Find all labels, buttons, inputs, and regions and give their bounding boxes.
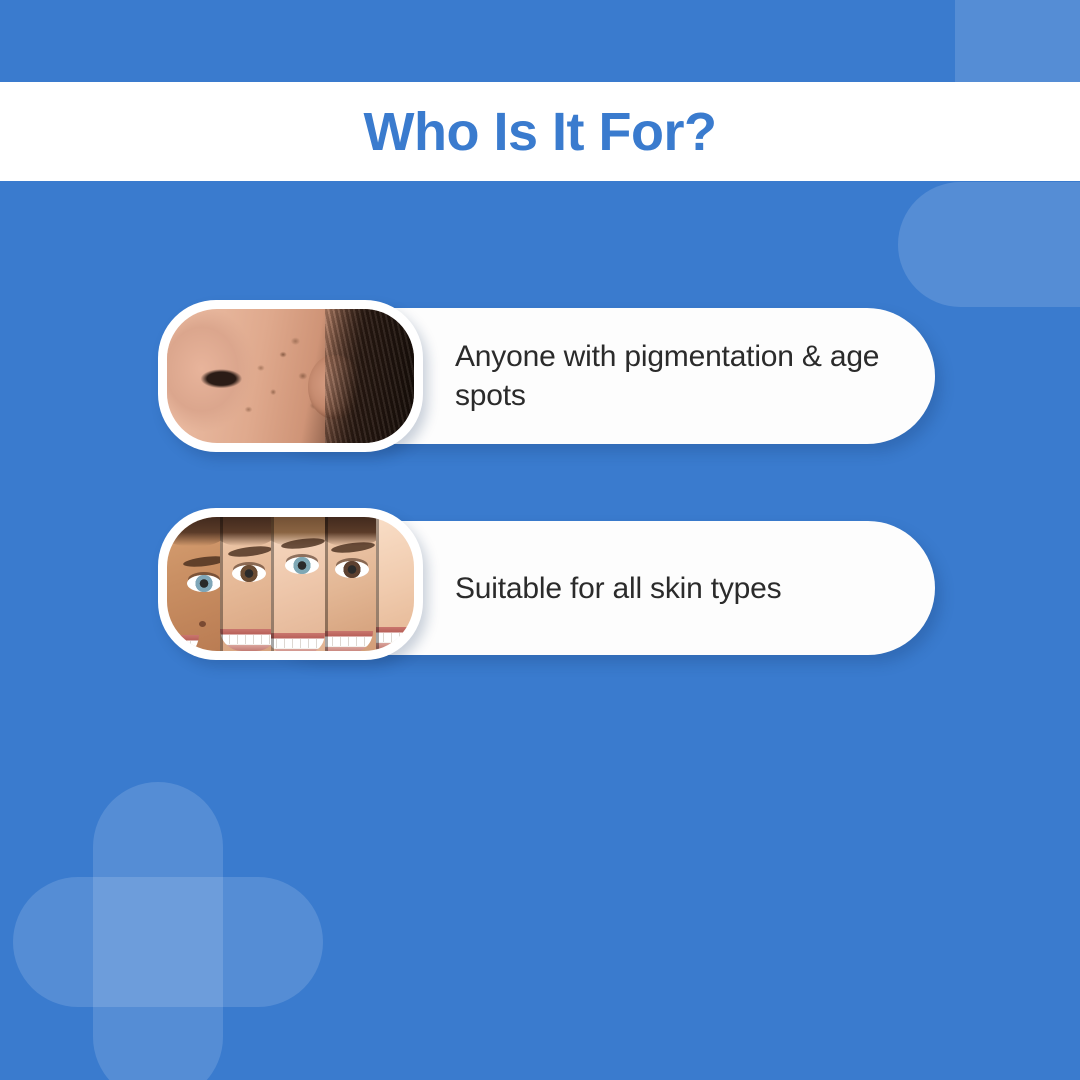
face-slice-2 <box>220 517 271 651</box>
face-slice-5 <box>376 517 414 651</box>
title-band: Who Is It For? <box>0 82 1080 181</box>
face-slice-4 <box>325 517 376 651</box>
feature-card-2-thumbnail <box>158 508 423 660</box>
page-title: Who Is It For? <box>364 105 717 159</box>
mouth <box>167 635 199 651</box>
hair-top <box>167 517 220 546</box>
hair-top <box>220 517 271 546</box>
plus-shape-bottom-left-icon <box>13 782 323 1080</box>
eye <box>187 575 220 592</box>
photo-pigmented-cheek <box>167 309 414 443</box>
feature-card-1-thumbnail <box>158 300 423 452</box>
thumbnail-image-skin-types <box>167 517 414 651</box>
mole <box>199 621 206 627</box>
eye <box>335 561 369 578</box>
photo-five-skin-tones <box>167 517 414 651</box>
face-slice-1 <box>167 517 220 651</box>
slide-canvas: Who Is It For? Anyone with pigmentation … <box>0 0 1080 1080</box>
plus-horizontal-bar <box>898 182 1080 307</box>
plus-horizontal-bar <box>13 877 323 1007</box>
thumbnail-image-pigmentation <box>167 309 414 443</box>
plus-vertical-bar <box>93 782 223 1080</box>
mouth <box>271 633 324 651</box>
face-slice-3 <box>271 517 324 651</box>
hair-detail <box>325 309 414 443</box>
